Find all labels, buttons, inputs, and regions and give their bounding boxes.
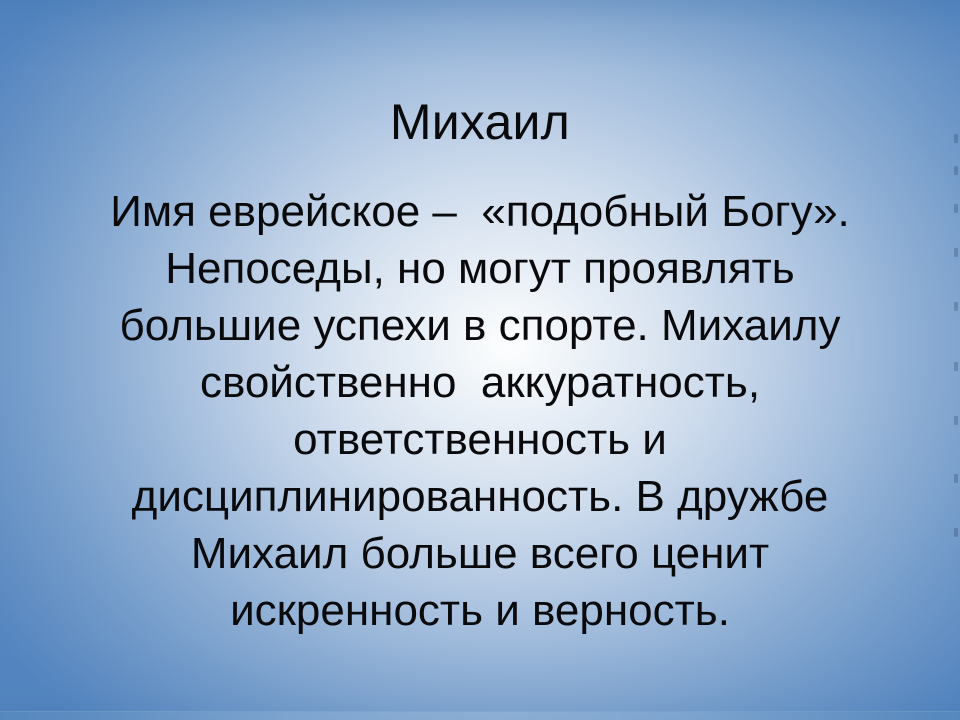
body-line: ответственность и (44, 411, 916, 468)
slide-content: Михаил Имя еврейское – «подобный Богу». … (0, 0, 960, 720)
body-line: дисциплинированность. В дружбе (44, 468, 916, 525)
body-line: Михаил больше всего ценит (44, 525, 916, 582)
slide-body-text: Имя еврейское – «подобный Богу». Непосед… (44, 183, 916, 639)
body-line: Непоседы, но могут проявлять (44, 240, 916, 297)
body-line: искренность и верность. (44, 582, 916, 639)
body-line: Имя еврейское – «подобный Богу». (44, 183, 916, 240)
body-line: свойственно аккуратность, (44, 354, 916, 411)
slide-title: Михаил (0, 91, 960, 153)
body-line: большие успехи в спорте. Михаилу (44, 297, 916, 354)
slide-canvas: Михаил Имя еврейское – «подобный Богу». … (0, 0, 960, 720)
